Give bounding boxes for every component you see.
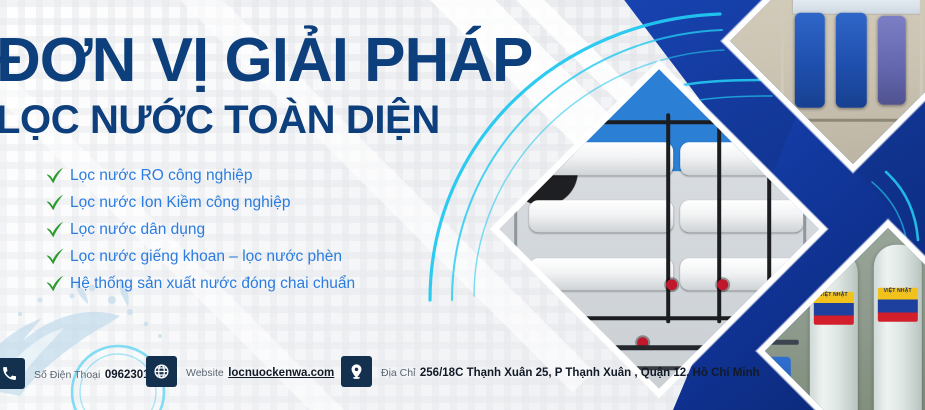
list-item: Hệ thống sản xuất nước đóng chai chuẩn xyxy=(40,270,355,297)
headline-primary: ĐƠN VỊ GIẢI PHÁP xyxy=(0,30,532,92)
service-label: Lọc nước dân dụng xyxy=(70,221,205,239)
address-label: Địa Chỉ xyxy=(381,367,415,379)
check-icon xyxy=(40,167,70,184)
contact-bar: Số Điện Thoại 0962301901 Website locnuoc… xyxy=(0,348,925,410)
check-icon xyxy=(40,275,70,292)
contact-website[interactable]: Website locnuockenwa.com xyxy=(146,356,334,387)
list-item: Lọc nước giếng khoan – lọc nước phèn xyxy=(40,243,355,270)
globe-icon xyxy=(146,356,177,387)
promotional-banner: VIỆT NHẬT VIỆT NHẬT VIỆT NHẬT ĐƠN VỊ GIẢ… xyxy=(0,0,925,410)
contact-address[interactable]: Địa Chỉ 256/18C Thạnh Xuân 25, P Thạnh X… xyxy=(341,356,760,387)
service-label: Lọc nước giếng khoan – lọc nước phèn xyxy=(70,248,342,266)
tank-brand-label: VIỆT NHẬT xyxy=(878,288,918,322)
phone-label: Số Điện Thoại xyxy=(34,369,100,381)
list-item: Lọc nước Ion Kiềm công nghiệp xyxy=(40,189,355,216)
check-icon xyxy=(40,248,70,265)
address-value: 256/18C Thạnh Xuân 25, P Thạnh Xuân , Qu… xyxy=(420,367,760,379)
phone-icon xyxy=(0,358,25,389)
service-label: Lọc nước Ion Kiềm công nghiệp xyxy=(70,194,290,212)
headline-block: ĐƠN VỊ GIẢI PHÁP LỌC NƯỚC TOÀN DIỆN xyxy=(0,30,532,142)
list-item: Lọc nước dân dụng xyxy=(40,216,355,243)
service-list: Lọc nước RO công nghiệp Lọc nước Ion Kiề… xyxy=(40,162,355,297)
list-item: Lọc nước RO công nghiệp xyxy=(40,162,355,189)
check-icon xyxy=(40,194,70,211)
tank-brand-label: VIỆT NHẬT xyxy=(814,292,854,325)
check-icon xyxy=(40,221,70,238)
website-value[interactable]: locnuockenwa.com xyxy=(228,367,334,379)
service-label: Hệ thống sản xuất nước đóng chai chuẩn xyxy=(70,275,355,293)
website-label: Website xyxy=(186,367,224,379)
location-pin-icon xyxy=(341,356,372,387)
service-label: Lọc nước RO công nghiệp xyxy=(70,167,253,185)
contact-phone[interactable]: Số Điện Thoại 0962301901 xyxy=(0,358,169,389)
headline-secondary: LỌC NƯỚC TOÀN DIỆN xyxy=(0,98,532,142)
